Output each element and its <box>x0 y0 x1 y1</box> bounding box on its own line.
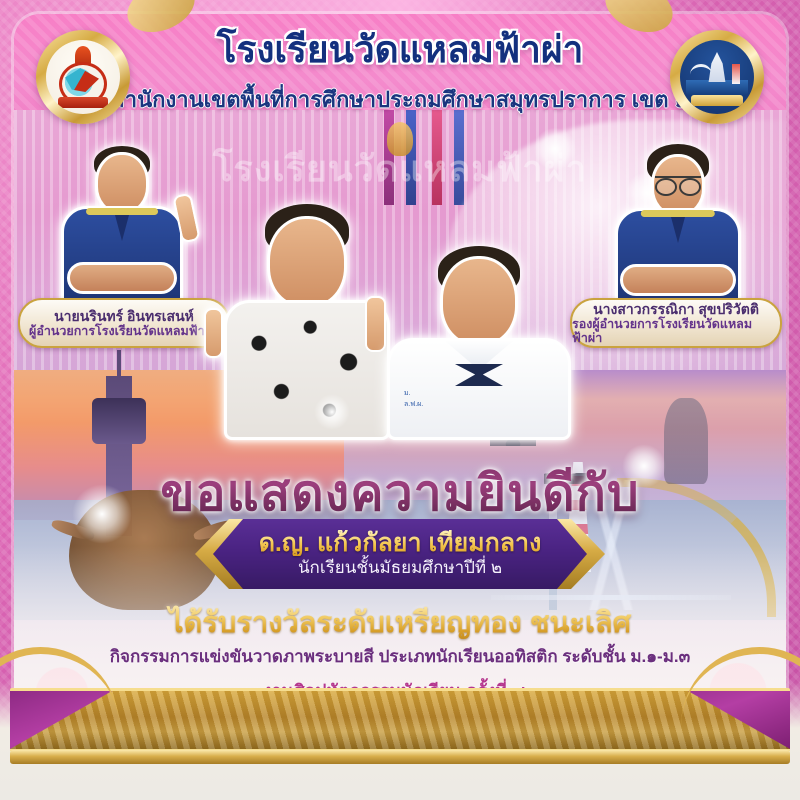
uniform-shirt <box>61 206 183 310</box>
logo-disc <box>46 40 120 114</box>
ribbon-banner-icon <box>691 95 743 106</box>
garuda-icon <box>54 46 112 108</box>
watermark-school-name: โรงเรียนวัดแหลมฟ้าผ่า <box>213 140 587 197</box>
award-title: ได้รับรางวัลระดับเหรียญทอง ชนะเลิศ <box>14 599 786 645</box>
deputy-director-role: รองผู้อำนวยการโรงเรียนวัดแหลมฟ้าผ่า <box>572 317 780 346</box>
awardee-grade: นักเรียนชั้นมัธยมศึกษาปีที่ ๒ <box>298 557 502 578</box>
chimney-icon <box>732 64 740 84</box>
director-portrait <box>42 144 202 304</box>
deputy-director-name: นางสาวกรรณิกา สุขปริวัตติ <box>593 301 759 317</box>
pointing-finger-icon <box>204 308 223 358</box>
congratulation-poster: โรงเรียนวัดแหลมฟ้าผ่า โรงเรียนวัดแหลมฟ้า… <box>0 0 800 800</box>
portrait-figure <box>598 144 758 304</box>
gold-rail <box>10 750 790 764</box>
bridge-temple-icon <box>686 46 748 108</box>
director-role: ผู้อำนวยการโรงเรียนวัดแหลมฟ้าผ่า <box>29 324 219 338</box>
temple-icon <box>707 52 727 82</box>
portrait-figure <box>42 144 202 304</box>
spao-samutprakan-logo <box>670 30 764 124</box>
ribbon-banner-icon <box>58 97 108 108</box>
face <box>95 152 149 214</box>
page-title: โรงเรียนวัดแหลมฟ้าผ่า <box>14 30 786 71</box>
awardee-name-banner: ด.ญ. แก้วกัลยา เทียมกลาง นักเรียนชั้นมัธ… <box>195 519 605 589</box>
face <box>440 256 518 346</box>
crossed-arms <box>620 264 736 296</box>
uniform-badge-text: ม.ล.ฟ.ผ. <box>404 388 423 410</box>
deputy-director-portrait <box>598 144 758 304</box>
logo-disc <box>680 40 754 114</box>
awarded-student-photo: ม.ล.ฟ.ผ. <box>374 246 584 434</box>
ornate-gold-band <box>10 688 790 752</box>
director-name-plate: นายนรินทร์ อินทรเสนห์ ผู้อำนวยการโรงเรีย… <box>18 298 230 348</box>
sparkle-icon <box>314 394 350 430</box>
competition-detail: กิจกรรมการแข่งขันวาดภาพระบายสี ประเภทนัก… <box>14 643 786 670</box>
director-name: นายนรินทร์ อินทรเสนห์ <box>54 308 194 324</box>
banner-inner: ด.ญ. แก้วกัลยา เทียมกลาง นักเรียนชั้นมัธ… <box>213 519 587 589</box>
deputy-director-name-plate: นางสาวกรรณิกา สุขปริวัตติ รองผู้อำนวยการ… <box>570 298 782 348</box>
crossed-arms <box>67 262 177 294</box>
garuda-emblem-logo <box>36 30 130 124</box>
awardee-name: ด.ญ. แก้วกัลยา เทียมกลาง <box>259 530 542 556</box>
poster-inner-canvas: โรงเรียนวัดแหลมฟ้าผ่า โรงเรียนวัดแหลมฟ้า… <box>14 14 786 736</box>
eyeglasses-icon <box>655 176 701 193</box>
face <box>267 216 347 308</box>
